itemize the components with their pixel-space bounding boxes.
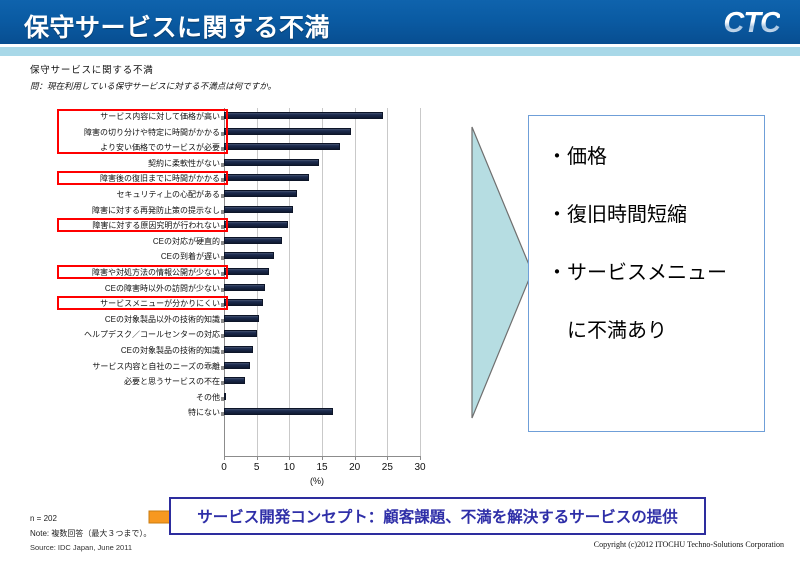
y-tick bbox=[221, 210, 224, 214]
chart-category-label: CEの対応が硬直的 bbox=[40, 236, 220, 247]
chart-subtitle: 問：現在利用している保守サービスに対する不満点は何ですか。 bbox=[30, 80, 276, 92]
gridline bbox=[387, 108, 388, 456]
x-tick-label: 15 bbox=[307, 462, 337, 473]
chart-category-label: セキュリティ上の心配がある bbox=[40, 189, 220, 200]
chart-bar bbox=[224, 408, 333, 415]
y-tick bbox=[221, 319, 224, 323]
y-tick bbox=[221, 350, 224, 354]
y-tick bbox=[221, 288, 224, 292]
summary-line-4: に不満あり bbox=[547, 314, 667, 343]
footnote-source: Source: IDC Japan, June 2011 bbox=[30, 543, 132, 552]
y-tick bbox=[221, 194, 224, 198]
chart-bar bbox=[224, 159, 319, 166]
y-tick bbox=[221, 256, 224, 260]
chevron-arrow-icon bbox=[470, 125, 535, 420]
chart-bar bbox=[224, 174, 309, 181]
ctc-logo: CTC bbox=[723, 7, 780, 40]
y-tick bbox=[221, 381, 224, 385]
summary-box: ・価格 ・復旧時間短縮 ・サービスメニュー に不満あり bbox=[528, 115, 765, 432]
chart-category-label: CEの到着が遅い bbox=[40, 251, 220, 262]
y-tick bbox=[221, 241, 224, 245]
summary-line-1: ・価格 bbox=[547, 140, 607, 169]
chart-category-label: 特にない bbox=[40, 407, 220, 418]
chart-bar bbox=[224, 315, 259, 322]
x-tick bbox=[224, 456, 225, 460]
x-tick bbox=[289, 456, 290, 460]
x-tick bbox=[322, 456, 323, 460]
summary-line-2: ・復旧時間短縮 bbox=[547, 198, 687, 227]
chart-category-label: 障害に対する再発防止策の提示なし bbox=[40, 205, 220, 216]
y-tick bbox=[221, 366, 224, 370]
chart-category-label: CEの対象製品以外の技術的知識 bbox=[40, 314, 220, 325]
x-tick bbox=[420, 456, 421, 460]
x-tick-label: 30 bbox=[405, 462, 435, 473]
gridline bbox=[355, 108, 356, 456]
x-tick-label: 10 bbox=[274, 462, 304, 473]
chart-highlight-box bbox=[57, 296, 228, 311]
x-tick bbox=[257, 456, 258, 460]
chart-bar bbox=[224, 143, 340, 150]
x-tick-label: 5 bbox=[242, 462, 272, 473]
chart-bar bbox=[224, 221, 288, 228]
chart-bar bbox=[224, 284, 265, 291]
y-tick bbox=[221, 397, 224, 401]
page-title: 保守サービスに関する不満 bbox=[24, 8, 330, 44]
chart-container: 保守サービスに関する不満 問：現在利用している保守サービスに対する不満点は何です… bbox=[0, 56, 455, 496]
chart-bar bbox=[224, 362, 250, 369]
x-tick-label: 20 bbox=[340, 462, 370, 473]
chart-category-label: 契約に柔軟性がない bbox=[40, 158, 220, 169]
x-tick bbox=[355, 456, 356, 460]
concept-banner: サービス開発コンセプト：顧客課題、不満を解決するサービスの提供 bbox=[170, 498, 705, 534]
chart-highlight-box bbox=[57, 218, 228, 233]
y-tick bbox=[221, 334, 224, 338]
y-tick bbox=[221, 163, 224, 167]
summary-line-3: ・サービスメニュー bbox=[547, 256, 727, 285]
chart-category-label: その他 bbox=[40, 392, 220, 403]
gridline bbox=[322, 108, 323, 456]
chart-category-label: 必要と思うサービスの不在 bbox=[40, 376, 220, 387]
chart-bar bbox=[224, 299, 263, 306]
chart-highlight-box bbox=[57, 109, 228, 155]
chart-highlight-box bbox=[57, 171, 228, 186]
x-axis-unit-label: (%) bbox=[310, 476, 324, 486]
chart-category-label: ヘルプデスク／コールセンターの対応 bbox=[40, 329, 220, 340]
header-accent-band bbox=[0, 47, 800, 56]
x-tick-label: 25 bbox=[372, 462, 402, 473]
y-tick bbox=[221, 412, 224, 416]
concept-banner-text: サービス開発コンセプト：顧客課題、不満を解決するサービスの提供 bbox=[171, 499, 704, 533]
chart-title: 保守サービスに関する不満 bbox=[30, 62, 154, 76]
x-tick-label: 0 bbox=[209, 462, 239, 473]
footnote-sample-size: n = 202 bbox=[30, 514, 57, 523]
chart-bar bbox=[224, 206, 293, 213]
chart-highlight-box bbox=[57, 265, 228, 280]
chart-bar bbox=[224, 190, 297, 197]
chart-bar bbox=[224, 252, 274, 259]
chart-bar bbox=[224, 112, 383, 119]
chart-bar bbox=[224, 330, 257, 337]
x-tick bbox=[387, 456, 388, 460]
chart-bar bbox=[224, 346, 253, 353]
footnote-note: Note: 複数回答（最大３つまで）。 bbox=[30, 528, 151, 539]
chart-bar bbox=[224, 268, 269, 275]
chart-category-label: サービス内容と自社のニーズの乖離 bbox=[40, 361, 220, 372]
chart-bar bbox=[224, 237, 282, 244]
chart-bar bbox=[224, 128, 351, 135]
chart-bar bbox=[224, 377, 245, 384]
gridline bbox=[420, 108, 421, 456]
chart-category-label: CEの障害時以外の訪問が少ない bbox=[40, 283, 220, 294]
chart-category-label: CEの対象製品の技術的知識 bbox=[40, 345, 220, 356]
chart-bar bbox=[224, 393, 226, 400]
copyright-text: Copyright (c)2012 ITOCHU Techno-Solution… bbox=[594, 540, 784, 549]
